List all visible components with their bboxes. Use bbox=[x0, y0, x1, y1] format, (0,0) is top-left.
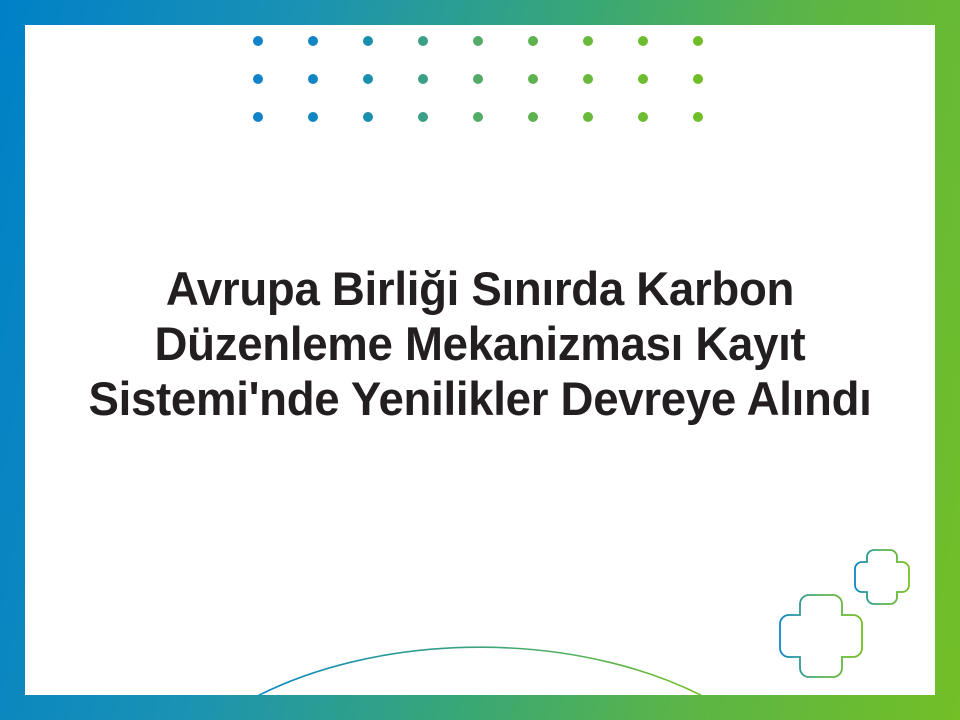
dot-grid-dot bbox=[308, 36, 318, 46]
dot-grid-dot bbox=[583, 74, 593, 84]
dot-grid-dot bbox=[473, 112, 483, 122]
dot-grid-dot bbox=[638, 74, 648, 84]
dot-grid-decoration bbox=[253, 36, 713, 132]
dot-grid-dot bbox=[693, 112, 703, 122]
dot-grid-dot bbox=[363, 112, 373, 122]
dot-grid-dot bbox=[528, 112, 538, 122]
dot-grid-dot bbox=[528, 74, 538, 84]
white-content-card: Avrupa Birliği Sınırda Karbon Düzenleme … bbox=[25, 25, 935, 695]
dot-grid-dot bbox=[418, 36, 428, 46]
dot-grid-dot bbox=[583, 112, 593, 122]
dot-grid-dot bbox=[473, 36, 483, 46]
dot-grid-dot bbox=[253, 112, 263, 122]
dot-grid-dot bbox=[638, 112, 648, 122]
dot-grid-dot bbox=[583, 36, 593, 46]
dot-grid-dot bbox=[253, 74, 263, 84]
dot-grid-dot bbox=[693, 74, 703, 84]
plus-small-icon bbox=[853, 548, 911, 606]
dot-grid-dot bbox=[253, 36, 263, 46]
plus-large-icon bbox=[778, 593, 864, 679]
dot-grid-dot bbox=[473, 74, 483, 84]
dot-grid-dot bbox=[363, 36, 373, 46]
dot-grid-dot bbox=[418, 74, 428, 84]
dot-grid-dot bbox=[638, 36, 648, 46]
slide-canvas: Avrupa Birliği Sınırda Karbon Düzenleme … bbox=[0, 0, 960, 720]
title-block: Avrupa Birliği Sınırda Karbon Düzenleme … bbox=[25, 261, 935, 426]
dot-grid-dot bbox=[528, 36, 538, 46]
dot-grid-dot bbox=[418, 112, 428, 122]
dot-grid-dot bbox=[363, 74, 373, 84]
page-title: Avrupa Birliği Sınırda Karbon Düzenleme … bbox=[56, 261, 904, 426]
dot-grid-dot bbox=[308, 74, 318, 84]
dot-grid-dot bbox=[693, 36, 703, 46]
dot-grid-dot bbox=[308, 112, 318, 122]
